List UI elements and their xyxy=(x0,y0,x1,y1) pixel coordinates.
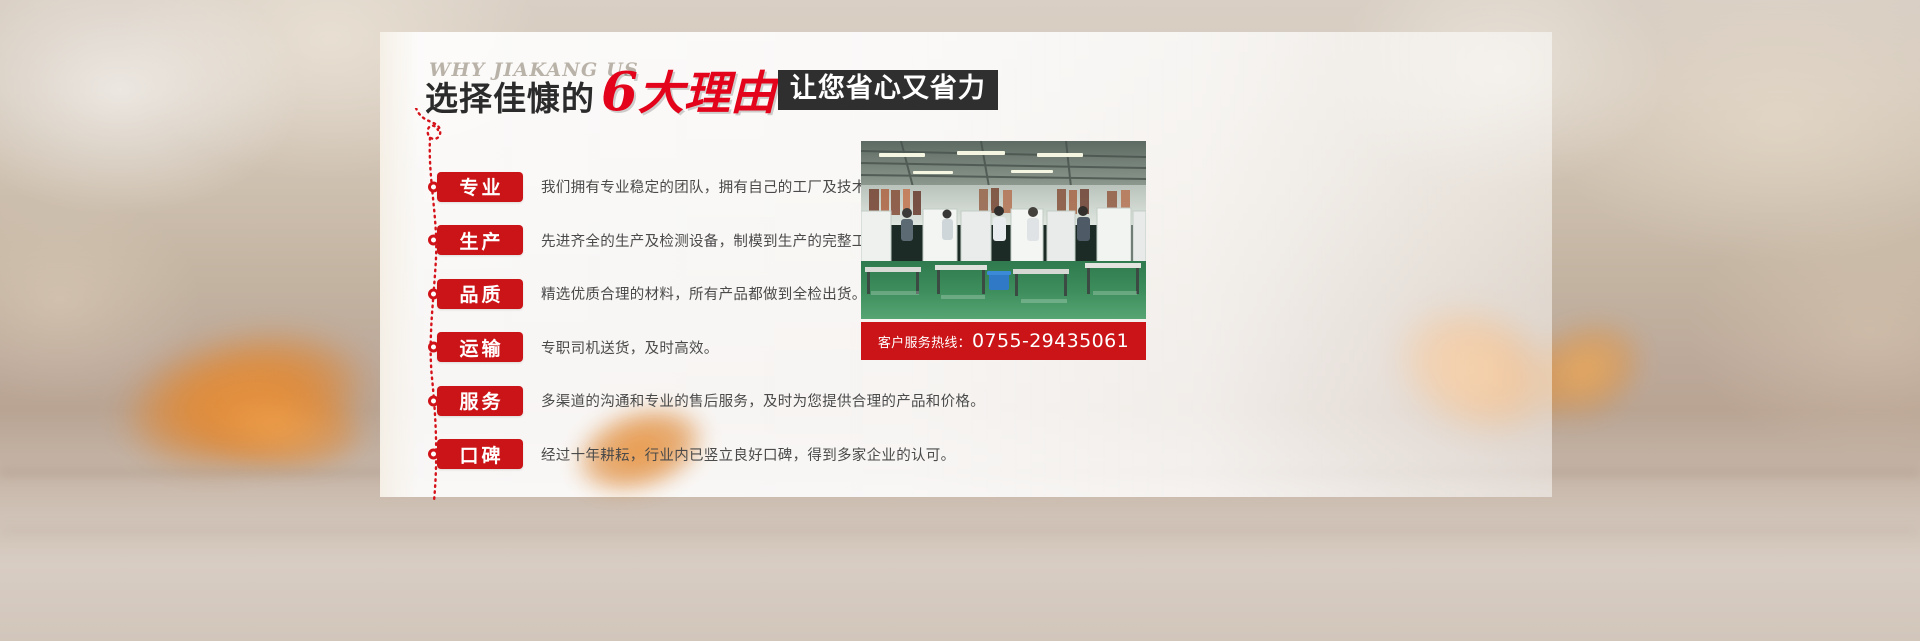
page-title: WHY JIAKANG US 选择佳慷的 6 大理由 让您省心又省力 xyxy=(425,58,998,114)
bullet-dot-icon xyxy=(428,342,439,353)
reason-description: 我们拥有专业稳定的团队，拥有自己的工厂及技术。 xyxy=(541,176,881,197)
heading-red-text: 大理由 xyxy=(638,70,776,116)
bullet-dot-icon xyxy=(428,181,439,192)
panel-left-edge xyxy=(380,32,418,497)
reason-tag: 生产 xyxy=(437,225,523,255)
promo-banner: WHY JIAKANG US 选择佳慷的 6 大理由 让您省心又省力 专业 我们… xyxy=(0,0,1920,641)
hotline-label: 客户服务热线： xyxy=(878,332,971,351)
reason-tag: 运输 xyxy=(437,332,523,362)
reason-tag: 专业 xyxy=(437,172,523,202)
list-item[interactable]: 服务 多渠道的沟通和专业的售后服务，及时为您提供合理的产品和价格。 xyxy=(437,374,1137,428)
reason-description: 专职司机送货，及时高效。 xyxy=(541,337,719,358)
heading-chinese-prefix: 选择佳慷的 xyxy=(425,79,595,118)
list-item[interactable]: 口碑 经过十年耕耘，行业内已竖立良好口碑，得到多家企业的认可。 xyxy=(437,428,1137,482)
bullet-dot-icon xyxy=(428,288,439,299)
bullet-dot-icon xyxy=(428,395,439,406)
heading-dark-banner: 让您省心又省力 xyxy=(778,70,998,110)
factory-photo-illustration xyxy=(861,141,1146,319)
reason-tag: 口碑 xyxy=(437,439,523,469)
reason-description: 经过十年耕耘，行业内已竖立良好口碑，得到多家企业的认可。 xyxy=(541,444,955,465)
hotline-number: 0755-29435061 xyxy=(972,330,1129,352)
bullet-dot-icon xyxy=(428,449,439,460)
reason-description: 先进齐全的生产及检测设备，制模到生产的完整工艺。 xyxy=(541,230,896,251)
bullet-dot-icon xyxy=(428,235,439,246)
wood-table-horizon-secondary xyxy=(0,530,1920,536)
reason-description: 多渠道的沟通和专业的售后服务，及时为您提供合理的产品和价格。 xyxy=(541,390,985,411)
heading-left-group: WHY JIAKANG US 选择佳慷的 xyxy=(425,81,595,114)
reason-tag: 品质 xyxy=(437,279,523,309)
heading-number: 6 xyxy=(601,68,638,117)
reason-description: 精选优质合理的材料，所有产品都做到全检出货。 xyxy=(541,283,867,304)
hotline-bar[interactable]: 客户服务热线： 0755-29435061 xyxy=(861,322,1146,360)
reason-tag: 服务 xyxy=(437,386,523,416)
factory-photo xyxy=(861,141,1146,319)
